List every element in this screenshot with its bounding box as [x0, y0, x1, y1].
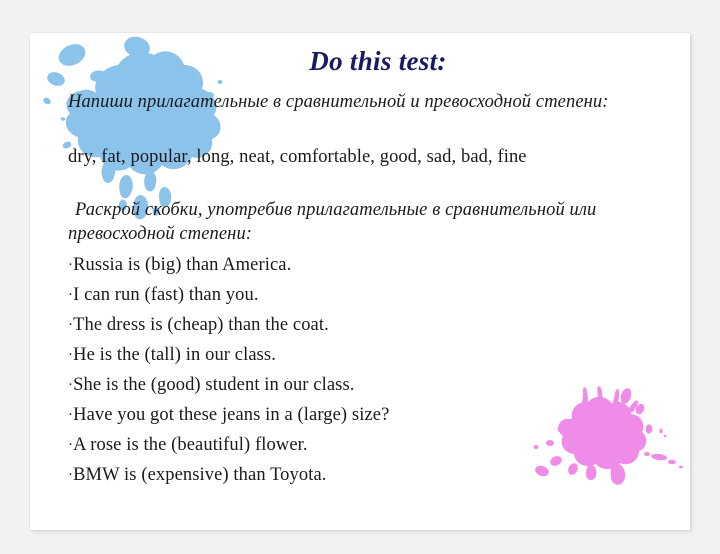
list-item: ·Russia is (big) than America. [68, 251, 668, 281]
list-item: ·The dress is (cheap) than the coat. [68, 311, 668, 341]
adjective-word-list: dry, fat, popular, long, neat, comfortab… [68, 146, 668, 170]
sentence-text: A rose is the (beautiful) flower. [73, 435, 308, 455]
instruction-text-2: Раскрой скобки, употребив прилагательные… [68, 199, 668, 246]
sentence-text: Have you got these jeans in a (large) si… [73, 405, 389, 425]
sentence-text: He is the (tall) in our class. [73, 345, 276, 365]
list-item: ·A rose is the (beautiful) flower. [68, 431, 668, 461]
sentence-text: I can run (fast) than you. [73, 285, 258, 305]
instruction-text-1: Напиши прилагательные в сравнительной и … [68, 91, 668, 115]
sentence-text: Russia is (big) than America. [73, 255, 291, 275]
exercise-sentence-list: ·Russia is (big) than America. ·I can ru… [68, 251, 668, 491]
presentation-slide: Do this test: Напиши прилагательные в ср… [30, 33, 690, 530]
list-item: ·I can run (fast) than you. [68, 281, 668, 311]
slide-stage: Do this test: Напиши прилагательные в ср… [0, 0, 720, 554]
list-item: ·BMW is (expensive) than Toyota. [68, 461, 668, 491]
sentence-text: The dress is (cheap) than the coat. [73, 315, 329, 335]
list-item: ·Have you got these jeans in a (large) s… [68, 401, 668, 431]
page-title: Do this test: [30, 47, 690, 77]
sentence-text: BMW is (expensive) than Toyota. [73, 465, 326, 485]
list-item: ·He is the (tall) in our class. [68, 341, 668, 371]
list-item: ·She is the (good) student in our class. [68, 371, 668, 401]
sentence-text: She is the (good) student in our class. [73, 375, 354, 395]
